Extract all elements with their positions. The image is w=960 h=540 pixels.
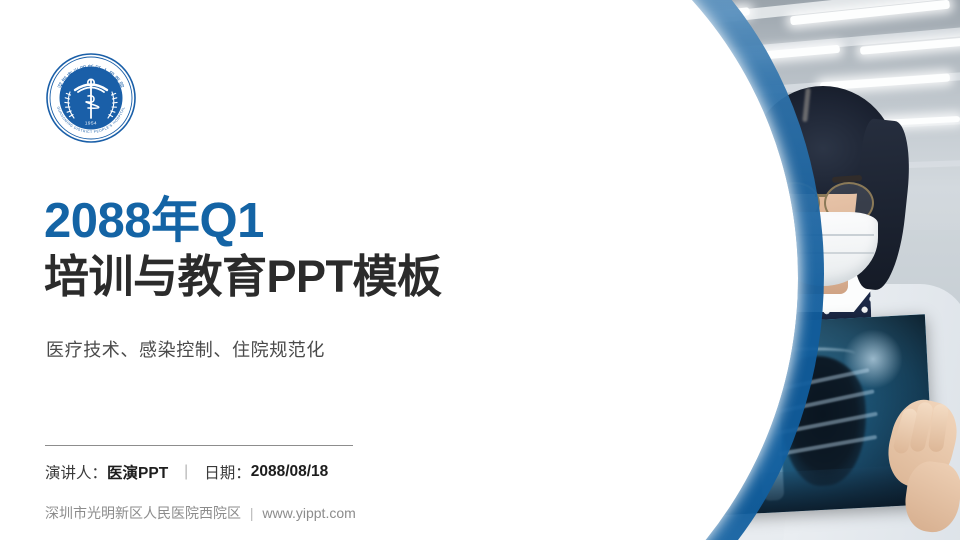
footer-line: 深圳市光明新区人民医院西院区 | www.yippt.com bbox=[45, 503, 356, 523]
presentation-slide: 深圳市光明新区人民医院 GUANGMING DISTRICT PEOPLE'S … bbox=[0, 0, 960, 540]
meta-separator: | bbox=[184, 463, 188, 481]
date-value: 2088/08/18 bbox=[251, 463, 329, 481]
footer-website[interactable]: www.yippt.com bbox=[262, 505, 355, 521]
footer-organization: 深圳市光明新区人民医院西院区 bbox=[45, 505, 241, 521]
eyeglass-bridge bbox=[815, 194, 826, 197]
presenter-meta: 演讲人： 医演PPT | 日期： 2088/08/18 bbox=[45, 461, 328, 483]
title-panel: 深圳市光明新区人民医院 GUANGMING DISTRICT PEOPLE'S … bbox=[0, 0, 420, 540]
presenter-label: 演讲人： bbox=[45, 461, 107, 483]
title-main: 培训与教育PPT模板 bbox=[44, 252, 514, 302]
divider-line bbox=[45, 445, 353, 446]
hospital-logo: 深圳市光明新区人民医院 GUANGMING DISTRICT PEOPLE'S … bbox=[45, 52, 137, 144]
slide-subtitle: 医疗技术、感染控制、住院规范化 bbox=[46, 336, 325, 362]
title-year: 2088年Q1 bbox=[44, 196, 514, 248]
slide-title-block: 2088年Q1 培训与教育PPT模板 bbox=[44, 196, 514, 302]
date-label: 日期： bbox=[204, 461, 251, 483]
svg-text:1954: 1954 bbox=[85, 120, 97, 125]
footer-divider: | bbox=[250, 505, 254, 521]
presenter-value: 医演PPT bbox=[107, 461, 168, 483]
